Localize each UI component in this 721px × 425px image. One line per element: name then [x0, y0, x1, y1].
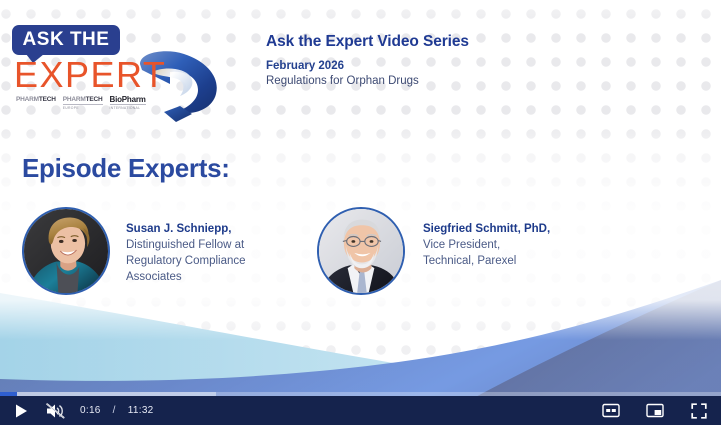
avatar: [22, 207, 110, 295]
current-time: 0:16: [80, 405, 101, 416]
ask-the-expert-logo: ASK THE EXPERT PHARMTECH PHARMTECH EUROP…: [12, 20, 227, 110]
progress-bar[interactable]: [0, 392, 721, 396]
series-title: Ask the Expert Video Series: [266, 33, 686, 51]
episode-date: February 2026: [266, 60, 686, 72]
time-display: 0:16 / 11:32: [80, 405, 154, 416]
avatar: [317, 207, 405, 295]
progress-played: [0, 392, 17, 396]
expert-title-line: Technical, Parexel: [423, 253, 550, 269]
player-control-bar[interactable]: 0:16 / 11:32: [0, 396, 721, 425]
expert-title-line: Associates: [126, 269, 246, 285]
slide-header: Ask the Expert Video Series February 202…: [266, 33, 686, 87]
fullscreen-button[interactable]: [677, 396, 721, 425]
picture-in-picture-icon: [646, 403, 664, 418]
mute-button[interactable]: [38, 396, 72, 425]
progress-buffered: [0, 392, 216, 396]
video-frame: ASK THE EXPERT PHARMTECH PHARMTECH EUROP…: [0, 0, 721, 425]
video-player[interactable]: ASK THE EXPERT PHARMTECH PHARMTECH EUROP…: [0, 0, 721, 425]
fullscreen-icon: [691, 403, 707, 419]
time-separator: /: [113, 405, 116, 416]
logo-brand-row: PHARMTECH PHARMTECH EUROPE BioPharm INTE…: [16, 96, 166, 109]
picture-in-picture-button[interactable]: [633, 396, 677, 425]
brand-pharmtech-europe: PHARMTECH EUROPE: [63, 96, 103, 112]
volume-muted-icon: [46, 403, 65, 419]
play-button[interactable]: [4, 396, 38, 425]
brand-biopharm: BioPharm INTERNATIONAL: [110, 96, 146, 112]
expert-name: Susan J. Schniepp,: [126, 221, 246, 237]
captions-icon: [602, 403, 620, 418]
expert-info: Siegfried Schmitt, PhD, Vice President, …: [423, 207, 550, 269]
expert-card: Siegfried Schmitt, PhD, Vice President, …: [317, 207, 550, 295]
duration: 11:32: [128, 405, 154, 416]
captions-button[interactable]: [589, 396, 633, 425]
logo-expert-text: EXPERT: [14, 57, 166, 93]
expert-name: Siegfried Schmitt, PhD,: [423, 221, 550, 237]
play-icon: [15, 404, 28, 418]
expert-card: Susan J. Schniepp, Distinguished Fellow …: [22, 207, 246, 295]
expert-title-line: Vice President,: [423, 237, 550, 253]
section-heading: Episode Experts:: [22, 153, 230, 184]
episode-topic: Regulations for Orphan Drugs: [266, 75, 686, 87]
expert-title-line: Distinguished Fellow at: [126, 237, 246, 253]
expert-info: Susan J. Schniepp, Distinguished Fellow …: [126, 207, 246, 285]
brand-pharmtech: PHARMTECH: [16, 96, 56, 103]
logo-ask-the-text: ASK THE: [12, 25, 120, 55]
expert-title-line: Regulatory Compliance: [126, 253, 246, 269]
